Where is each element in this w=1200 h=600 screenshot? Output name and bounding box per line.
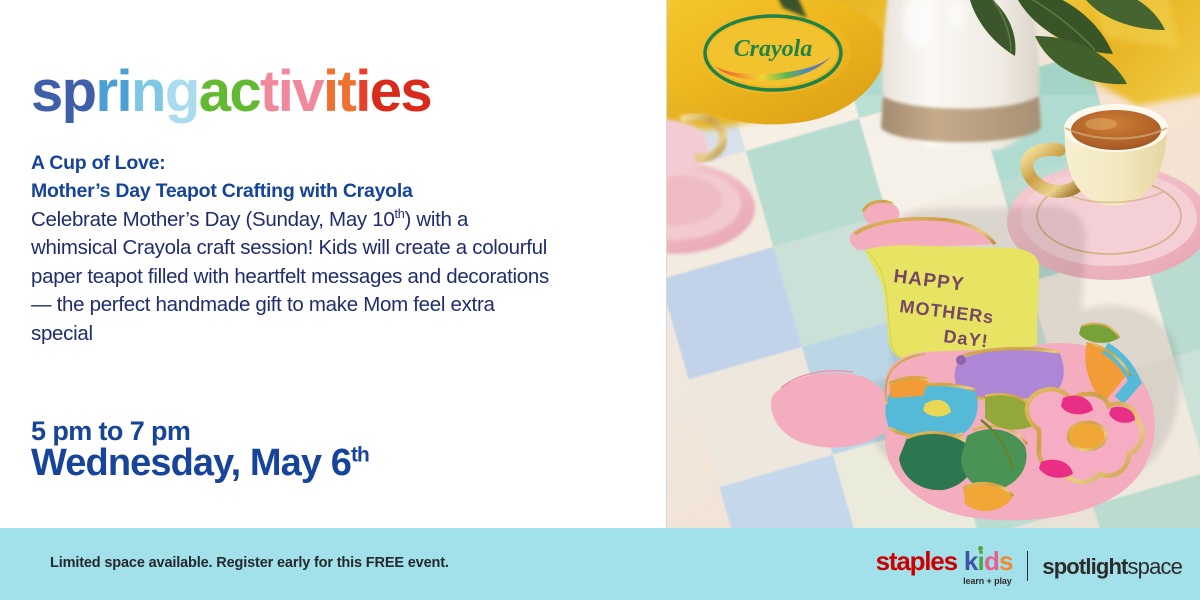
spotlight-word: spotlight (1042, 554, 1127, 579)
headline-letter-8: t (260, 59, 278, 124)
event-photo: Crayola (667, 0, 1200, 528)
headline-letter-5: g (165, 59, 199, 124)
staples-kids-tagline: learn + play (963, 576, 1012, 586)
space-word: space (1128, 554, 1182, 579)
poster-root: springactivities A Cup of Love: Mother’s… (0, 0, 1200, 600)
logo-separator (1027, 551, 1029, 581)
staples-kids-logo[interactable]: staples kids learn + play (876, 548, 1013, 586)
event-subtitle-line-2: Mother’s Day Teapot Crafting with Crayol… (31, 178, 571, 206)
footer-note: Limited space available. Register early … (50, 555, 449, 571)
headline-letter-2: r (96, 59, 117, 124)
headline-letter-1: p (62, 59, 96, 124)
headline-letter-4: n (131, 59, 165, 124)
headline-letter-11: i (323, 59, 338, 124)
footer-bar: Limited space available. Register early … (0, 528, 1200, 600)
date-ordinal-suffix: th (394, 206, 404, 221)
footer-logos: staples kids learn + play spotlightspace (876, 548, 1182, 586)
staples-wordmark: staples (876, 548, 957, 574)
spotlightspace-logo[interactable]: spotlightspace (1042, 556, 1182, 578)
event-description-part-1: Celebrate Mother’s Day (Sunday, May 10 (31, 208, 394, 231)
event-date-text: Wednesday, May 6 (31, 442, 351, 484)
photo-illustration: Crayola (667, 0, 1200, 528)
headline-letter-15: s (400, 59, 431, 124)
event-description: Celebrate Mother’s Day (Sunday, May 10th… (31, 205, 551, 348)
left-text-panel: springactivities A Cup of Love: Mother’s… (0, 0, 667, 528)
headline-letter-12: t (337, 59, 355, 124)
headline-letter-0: s (31, 59, 62, 124)
event-date: Wednesday, May 6th (31, 442, 369, 485)
kids-letter-s: s (999, 546, 1013, 576)
event-date-ordinal: th (351, 443, 369, 466)
headline-letter-6: a (199, 59, 230, 124)
headline-letter-7: c (229, 59, 260, 124)
headline-letter-13: i (355, 59, 370, 124)
staples-kids-wordmark: staples kids (876, 548, 1013, 574)
page-title: springactivities (31, 63, 431, 121)
kids-wordmark: kids (964, 548, 1013, 574)
event-subtitle-line-1: A Cup of Love: (31, 150, 571, 178)
event-subtitle: A Cup of Love: Mother’s Day Teapot Craft… (31, 150, 571, 205)
headline-letter-3: i (117, 59, 132, 124)
headline-letter-10: v (292, 59, 323, 124)
headline-letter-9: i (278, 59, 293, 124)
headline-letter-14: e (370, 59, 401, 124)
kids-letter-k: k (964, 546, 978, 576)
kids-letter-d: d (984, 546, 999, 576)
kids-i-dot-icon (978, 546, 983, 551)
